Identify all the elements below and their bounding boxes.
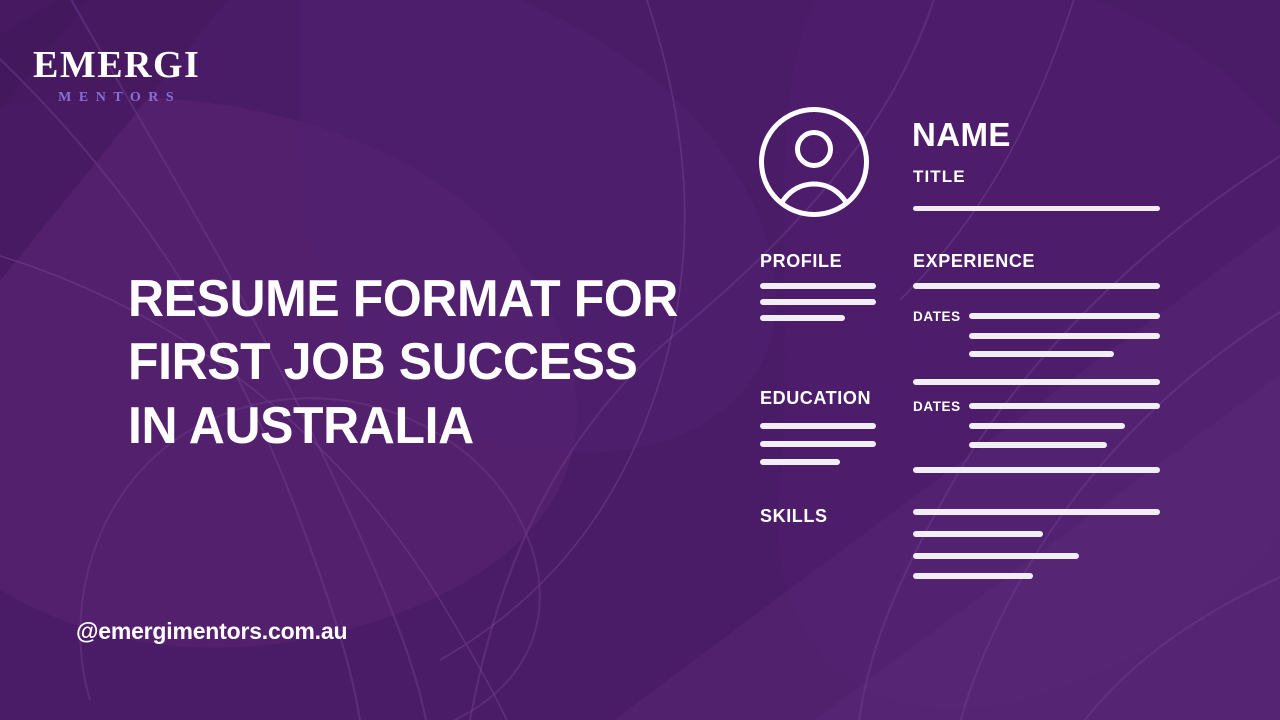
resume-bar-education-2 (760, 441, 876, 447)
resume-header-rule (913, 206, 1160, 211)
resume-bar-experience-8 (969, 442, 1107, 448)
person-avatar-icon (757, 105, 871, 219)
brand-tagline: MENTORS (33, 91, 200, 105)
resume-bar-experience-7 (969, 423, 1125, 429)
resume-bar-experience-6 (969, 403, 1160, 409)
brand-logo: EMERGI MENTORS (33, 46, 200, 105)
resume-bar-skills-2 (913, 531, 1043, 537)
headline-line-2: FIRST JOB SUCCESS (128, 331, 704, 394)
resume-section-experience-heading: EXPERIENCE (913, 252, 1035, 270)
headline-line-1: RESUME FORMAT FOR (128, 268, 704, 331)
resume-bar-experience-4 (969, 351, 1114, 357)
page-title: RESUME FORMAT FOR FIRST JOB SUCCESS IN A… (128, 268, 704, 458)
resume-bar-experience-1 (913, 283, 1160, 289)
resume-title-label: TITLE (913, 168, 966, 185)
headline-line-3: IN AUSTRALIA (128, 395, 704, 458)
resume-section-skills-heading: SKILLS (760, 507, 828, 525)
resume-bar-profile-2 (760, 299, 876, 305)
resume-illustration: NAME TITLE PROFILE EDUCATION SKILLS EXPE… (757, 105, 1162, 575)
resume-bar-profile-1 (760, 283, 876, 289)
resume-bar-skills-3 (913, 553, 1079, 559)
resume-bar-experience-5 (913, 379, 1160, 385)
poster-canvas: EMERGI MENTORS RESUME FORMAT FOR FIRST J… (0, 0, 1280, 720)
resume-dates-label-2: DATES (913, 400, 961, 414)
resume-dates-label-1: DATES (913, 310, 961, 324)
website-handle[interactable]: @emergimentors.com.au (76, 618, 347, 645)
resume-bar-skills-1 (913, 509, 1160, 515)
resume-section-profile-heading: PROFILE (760, 252, 842, 270)
resume-bar-experience-9 (913, 467, 1160, 473)
resume-bar-experience-3 (969, 333, 1160, 339)
resume-bar-profile-3 (760, 315, 845, 321)
resume-bar-skills-4 (913, 573, 1033, 579)
resume-bar-education-1 (760, 423, 876, 429)
brand-name: EMERGI (33, 46, 200, 84)
resume-name-label: NAME (912, 118, 1011, 151)
resume-bar-education-3 (760, 459, 840, 465)
resume-bar-experience-2 (969, 313, 1160, 319)
resume-section-education-heading: EDUCATION (760, 389, 871, 407)
